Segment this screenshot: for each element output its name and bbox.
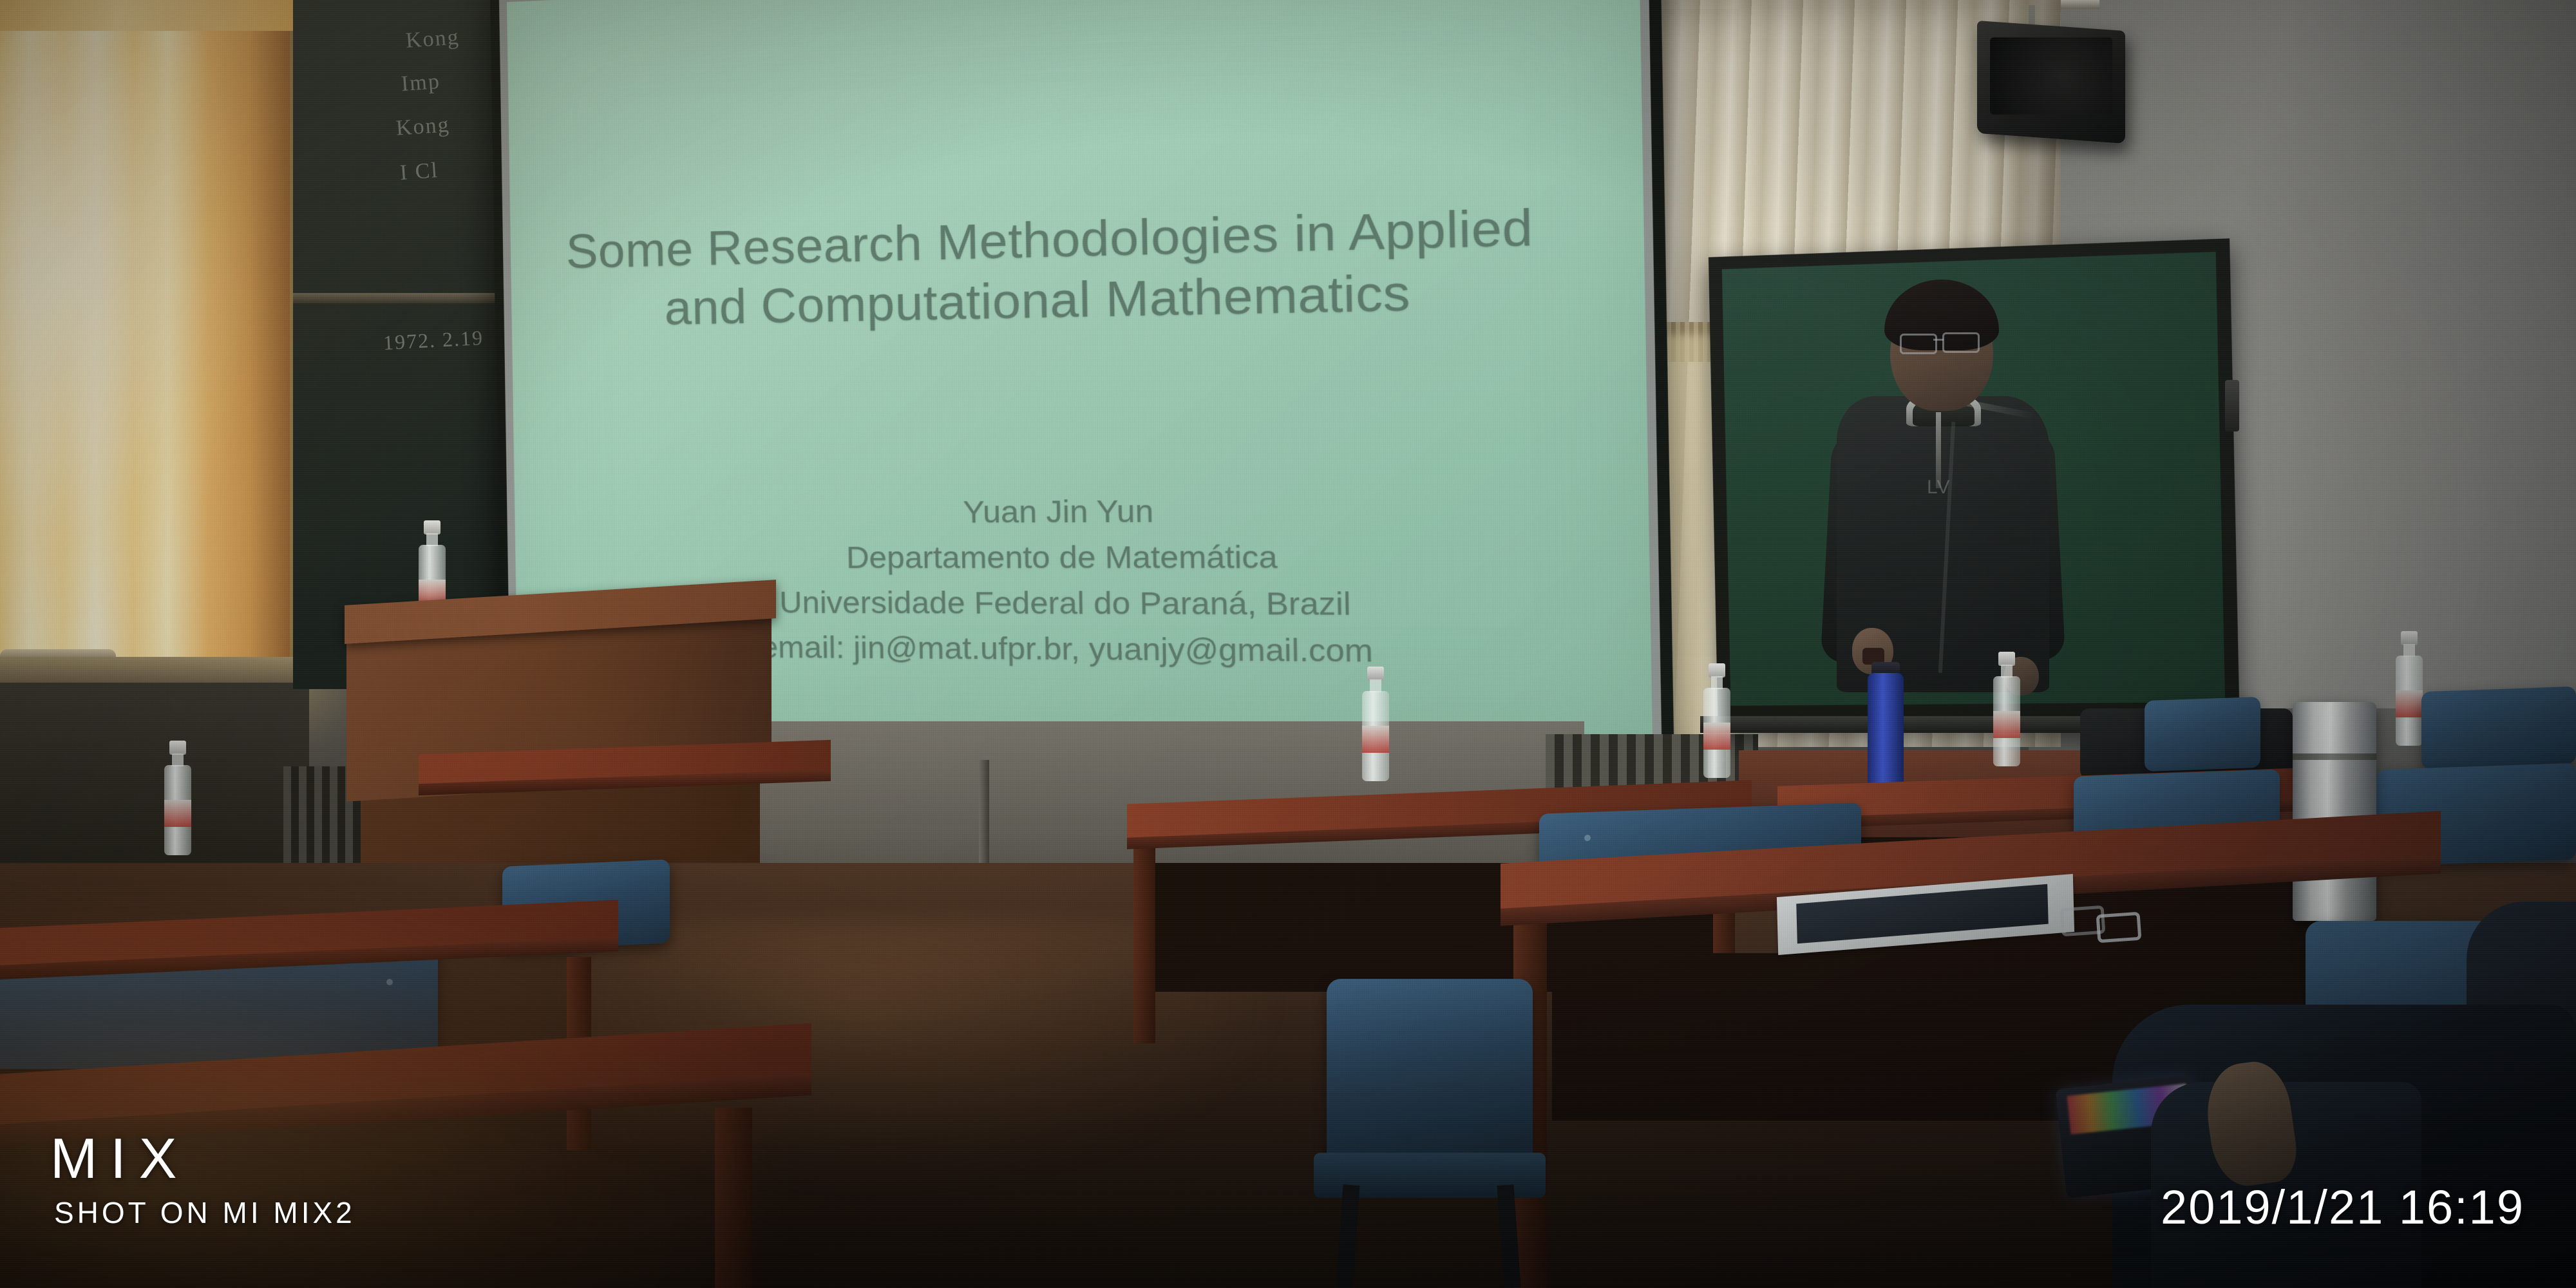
slide-department: Departamento de Matemática	[515, 533, 1650, 581]
bottle-neck	[2403, 644, 2415, 657]
bottle-cap	[424, 520, 440, 535]
bottle-cap	[1367, 667, 1384, 681]
chair-stud	[386, 979, 393, 985]
bottle-neck	[1711, 676, 1723, 689]
photo-timestamp: 2019/1/21 16:19	[2161, 1180, 2524, 1235]
presenter: LV	[1816, 283, 2074, 747]
bottle-cap	[1998, 652, 2015, 666]
bottle-neck	[1370, 679, 1381, 692]
camera-watermark-brand: MIX	[50, 1126, 189, 1191]
bottle-cap	[2401, 631, 2418, 645]
chair-stud	[1584, 835, 1591, 841]
left-curtain-valance	[0, 0, 296, 31]
chair	[2145, 697, 2260, 772]
bottle-neck	[172, 753, 184, 766]
speaker-grille	[1990, 37, 2112, 115]
bottle-label	[164, 800, 191, 827]
chalk-note-3: Kong	[395, 113, 451, 141]
camera-watermark-tagline: SHOT ON MI MIX2	[54, 1195, 355, 1230]
chalkboard-chalk-rail	[293, 293, 518, 303]
bottle-cap	[1709, 663, 1725, 677]
sunlight-glow	[0, 39, 245, 618]
board-handle	[2225, 380, 2239, 431]
desk-leg	[715, 1108, 752, 1288]
eyeglasses-right-lens	[1942, 332, 1980, 353]
bottle-neck	[2001, 665, 2012, 677]
blue-water-bottle	[1868, 673, 1904, 795]
chalk-note-1: Kong	[405, 25, 460, 53]
bottle-label	[2396, 690, 2423, 717]
classroom-photo: Kong Imp Kong I Cl 1972. 2.19 Some Resea…	[0, 0, 2576, 1288]
slide-author-name: Yuan Jin Yun	[515, 485, 1649, 536]
eyeglasses-right-lens	[2096, 912, 2142, 943]
chalk-note-4: I Cl	[399, 158, 439, 185]
bottle-label	[1362, 726, 1389, 753]
left-chalkboard: Kong Imp Kong I Cl 1972. 2.19	[293, 0, 522, 689]
presenter-jacket-logo: LV	[1927, 477, 1978, 498]
bottle-label	[1703, 723, 1730, 750]
desk-leg	[1133, 831, 1155, 1043]
eyeglasses-icon	[1900, 334, 1937, 354]
bottle-neck	[426, 533, 438, 546]
chalk-note-2: Imp	[401, 70, 441, 97]
bottle-cap	[169, 741, 186, 755]
bottle-label	[1993, 711, 2020, 738]
thermos-ring	[2293, 753, 2376, 760]
chair	[2421, 687, 2576, 769]
slide-title: Some Research Methodologies in Applied a…	[565, 195, 1585, 339]
thermos-cap	[2293, 702, 2376, 757]
chair	[1327, 979, 1533, 1172]
chalk-note-5: 1972. 2.19	[383, 326, 484, 355]
